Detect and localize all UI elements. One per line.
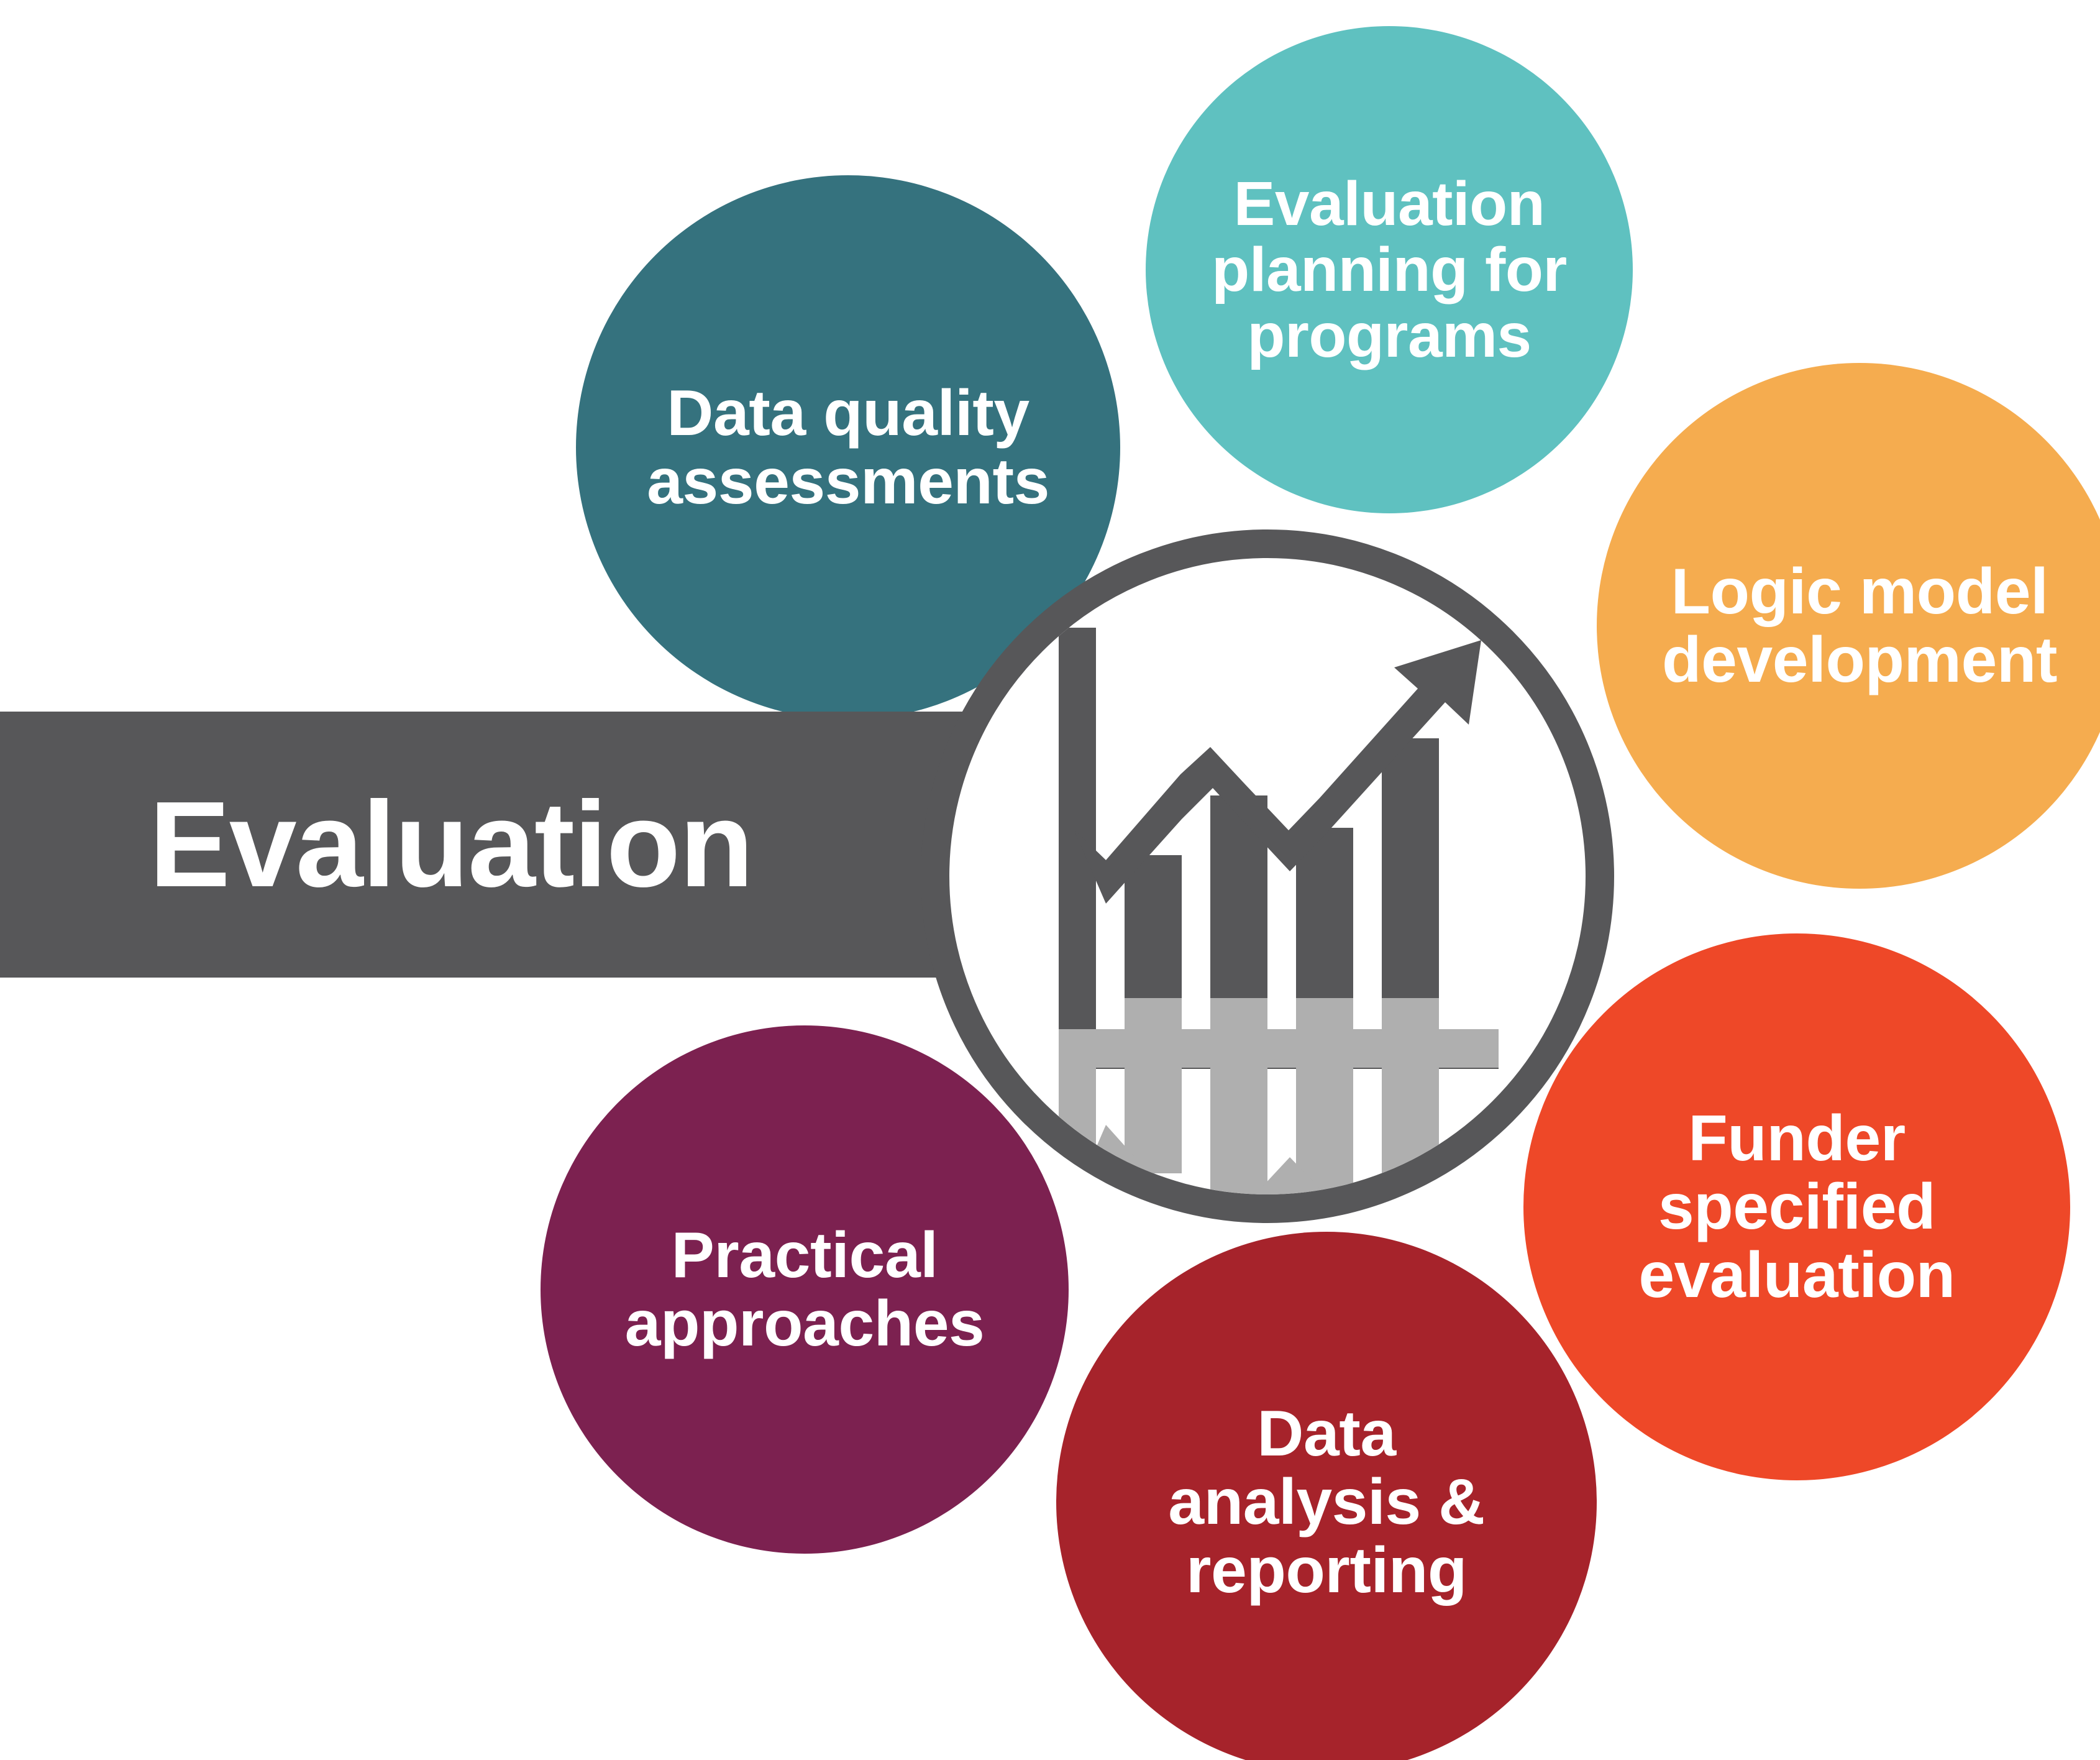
bubble-label-evaluation-planning: Evaluation planning for programs bbox=[1146, 171, 1633, 369]
evaluation-banner: Evaluation bbox=[0, 712, 979, 978]
bubble-label-data-analysis-reporting: Data analysis & reporting bbox=[1056, 1400, 1597, 1605]
chart-reflection-bar-2 bbox=[1210, 998, 1267, 1194]
chart-reflection-bar-3 bbox=[1296, 998, 1353, 1194]
bar-chart-growth-icon bbox=[949, 558, 1586, 1194]
bubble-funder-specified[interactable]: Funder specified evaluation bbox=[1523, 933, 2070, 1480]
evaluation-services-diagram: Data quality assessments Evaluation plan… bbox=[0, 0, 2100, 1760]
hub-circle bbox=[921, 529, 1614, 1223]
bubble-label-funder-specified: Funder specified evaluation bbox=[1523, 1104, 2070, 1310]
bubble-evaluation-planning[interactable]: Evaluation planning for programs bbox=[1146, 26, 1633, 513]
bubble-label-logic-model-development: Logic model development bbox=[1597, 557, 2100, 694]
bubble-data-analysis-reporting[interactable]: Data analysis & reporting bbox=[1056, 1232, 1597, 1760]
page-title: Evaluation bbox=[0, 784, 752, 905]
chart-reflection-bar-4 bbox=[1382, 998, 1439, 1194]
bubble-label-practical-approaches: Practical approaches bbox=[541, 1221, 1069, 1358]
bubble-label-data-quality-assessments: Data quality assessments bbox=[576, 379, 1120, 516]
chart-reflection-bar-1 bbox=[1125, 998, 1182, 1173]
chart-reflection-group bbox=[1059, 998, 1499, 1194]
bubble-logic-model-development[interactable]: Logic model development bbox=[1597, 363, 2100, 889]
chart-bar-4 bbox=[1382, 738, 1439, 1030]
